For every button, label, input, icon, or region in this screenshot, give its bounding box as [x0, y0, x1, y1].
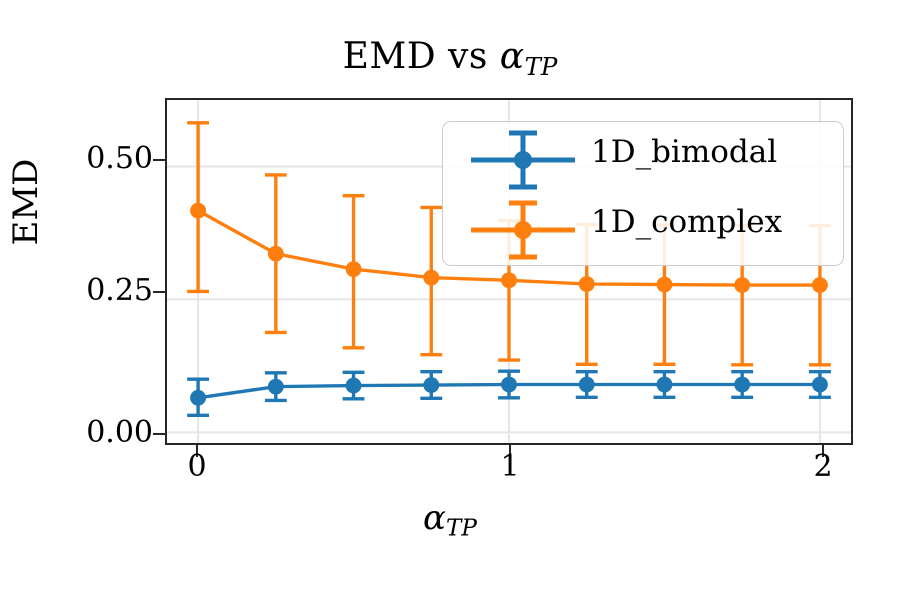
- chart-title: EMD vs αTP: [0, 36, 900, 81]
- legend-item-1[interactable]: 1D_complex: [443, 194, 843, 266]
- y-tickmark-050: [153, 159, 165, 161]
- y-tick-label-050: 0.50: [33, 144, 153, 174]
- series-1D_bimodal: [187, 371, 831, 415]
- legend-label-0: 1D_bimodal: [591, 134, 777, 170]
- chart-title-prefix: EMD vs: [343, 36, 500, 77]
- x-axis-tick-labels: 0 1 2: [165, 452, 853, 498]
- legend-marker-0: [463, 124, 583, 196]
- x-tick-label-0: 0: [157, 452, 237, 482]
- legend: 1D_bimodal 1D_complex: [442, 121, 844, 266]
- chart-title-symbol: α: [500, 36, 525, 77]
- legend-label-1: 1D_complex: [591, 204, 782, 240]
- y-tickmark-025: [153, 291, 165, 293]
- x-axis-label: αTP: [0, 498, 900, 541]
- legend-marker-1: [463, 194, 583, 266]
- x-axis-label-symbol: α: [423, 498, 446, 538]
- x-axis-label-subscript: TP: [446, 515, 477, 541]
- chart-figure: EMD vs αTP 0.50 0.25 0.00 0 1 2 EMD αTP …: [0, 0, 900, 600]
- chart-title-subscript: TP: [525, 52, 558, 81]
- x-tick-label-1: 1: [470, 452, 550, 482]
- y-axis-label: EMD: [6, 112, 46, 292]
- y-tickmark-000: [153, 433, 165, 435]
- legend-item-0[interactable]: 1D_bimodal: [443, 124, 843, 196]
- y-tick-label-025: 0.25: [33, 276, 153, 306]
- y-tick-label-000: 0.00: [33, 418, 153, 448]
- x-tick-label-2: 2: [783, 452, 863, 482]
